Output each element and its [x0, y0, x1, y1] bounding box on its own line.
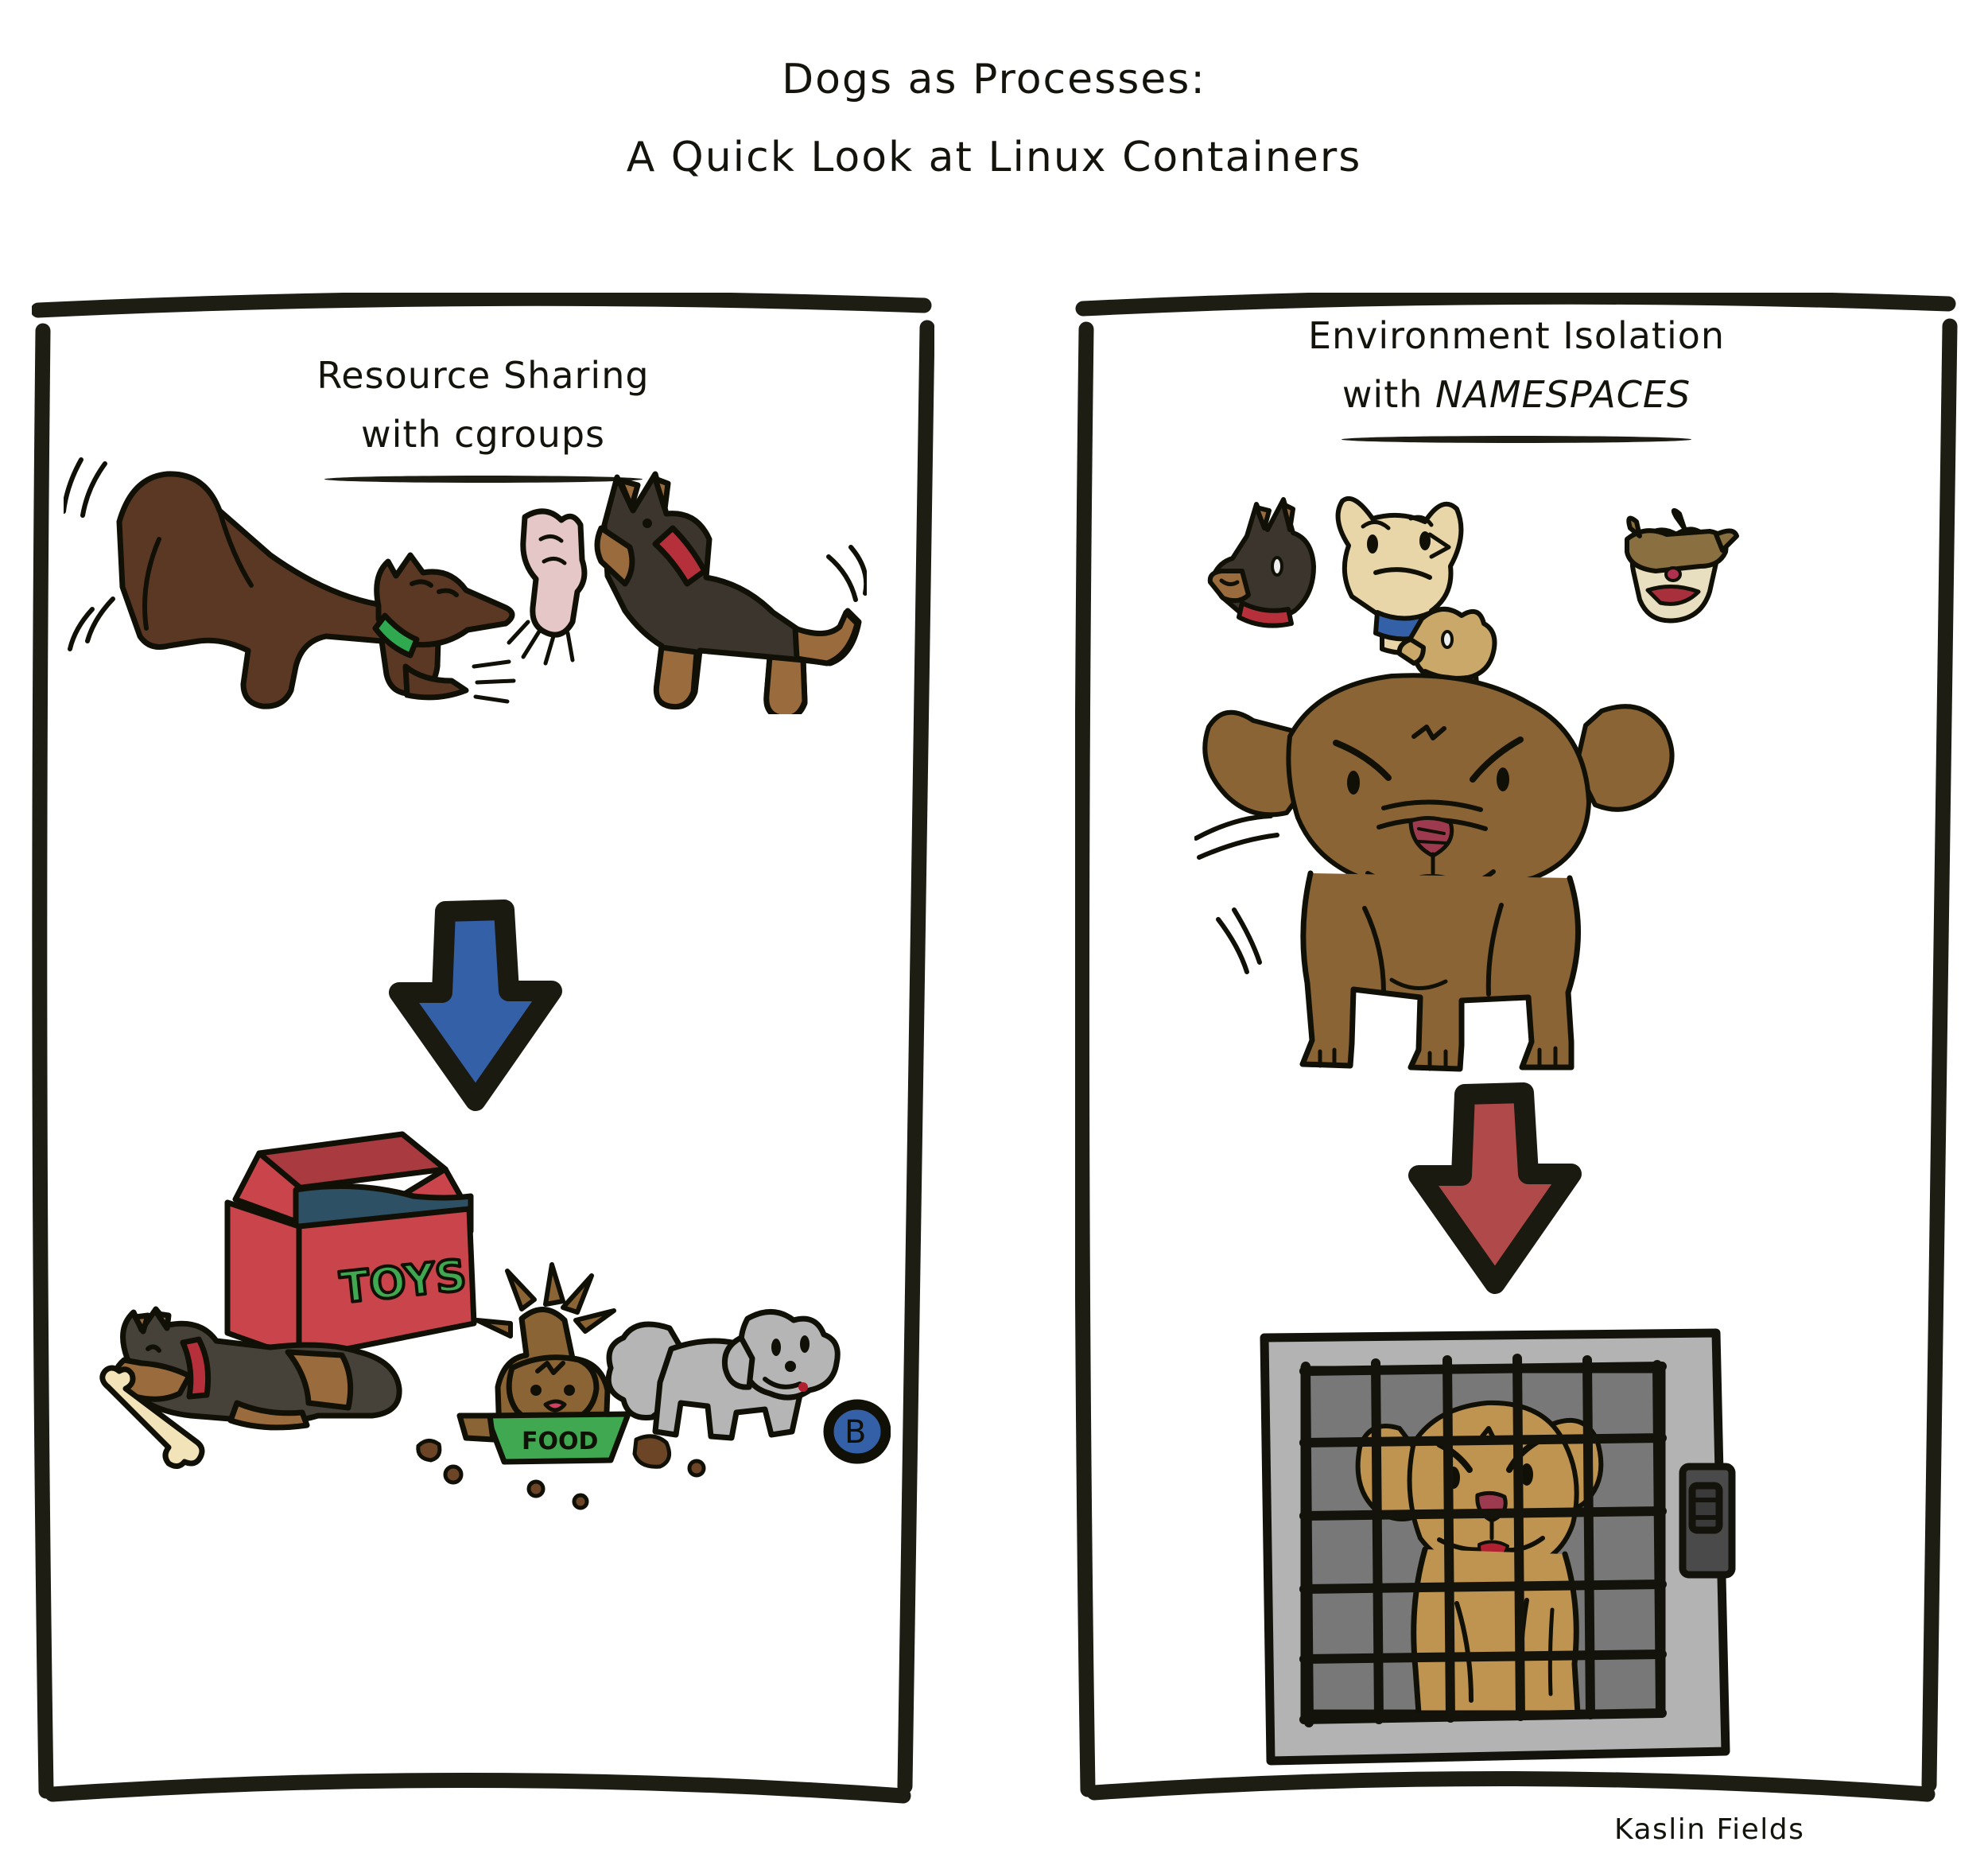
panel-right-heading: Environment Isolation with NAMESPACES: [1075, 315, 1958, 443]
food-bowl-label: FOOD: [522, 1428, 598, 1455]
heading-prefix: with: [1342, 373, 1435, 416]
angry-brown-dog: [1196, 675, 1672, 1069]
brown-cream-dog-head-sketch: [1627, 511, 1737, 621]
crate-latch: [1683, 1467, 1732, 1575]
blue-ball-label: B: [845, 1414, 866, 1451]
doberman-head-sketch: [1210, 499, 1314, 626]
title-line-1: Dogs as Processes:: [0, 56, 1988, 103]
heading-line-2: with NAMESPACES: [1075, 374, 1958, 415]
heading-emphasis: NAMESPACES: [1435, 373, 1691, 416]
title-line-2: A Quick Look at Linux Containers: [0, 134, 1988, 181]
two-dogs-tug-of-war-illustration: [64, 428, 867, 714]
panel-resource-sharing: Resource Sharing with cgroups: [32, 293, 934, 1804]
angry-dog-with-head-sketches-illustration: [1194, 484, 1846, 1072]
down-arrow-blue: [388, 899, 563, 1115]
heading-line-1: Resource Sharing: [32, 355, 934, 396]
heading-line-1: Environment Isolation: [1075, 315, 1958, 356]
artist-signature: Kaslin Fields: [1614, 1813, 1804, 1846]
dogs-sharing-resources-illustration: TOYS: [80, 1120, 891, 1565]
dog-in-crate-illustration: [1250, 1327, 1743, 1772]
down-arrow-red: [1408, 1082, 1582, 1298]
panel-environment-isolation: Environment Isolation with NAMESPACES: [1075, 293, 1958, 1804]
heading-underline: [1342, 436, 1691, 443]
page-title: Dogs as Processes: A Quick Look at Linux…: [0, 56, 1988, 181]
